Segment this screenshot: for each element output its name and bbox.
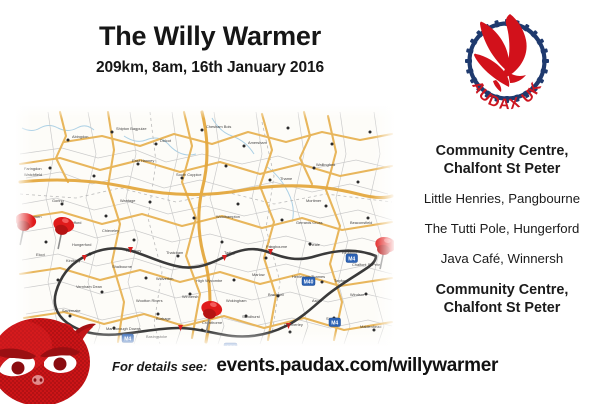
control-list: Community Centre, Chalfont St Peter Litt…: [404, 142, 600, 317]
svg-text:Marlborough Downs: Marlborough Downs: [106, 326, 141, 331]
svg-text:M4: M4: [348, 256, 355, 262]
svg-text:High Wycombe: High Wycombe: [196, 278, 222, 283]
control-pangbourne: Little Henries, Pangbourne: [404, 191, 600, 208]
svg-text:Shipton Bagpuize: Shipton Bagpuize: [116, 126, 147, 131]
control-finish-line2: Chalfont St Peter: [404, 299, 600, 317]
svg-text:Camberley: Camberley: [284, 322, 303, 327]
page-title: The Willy Warmer: [0, 22, 420, 52]
svg-text:Chieveley: Chieveley: [102, 228, 119, 233]
footer-label: For details see:: [112, 359, 207, 374]
svg-text:Wootton Rivers: Wootton Rivers: [136, 298, 163, 303]
control-start-line2: Chalfont St Peter: [404, 160, 600, 178]
svg-text:Shalbourne: Shalbourne: [112, 264, 132, 269]
svg-text:Abingdon: Abingdon: [72, 134, 88, 139]
svg-text:Wolverton: Wolverton: [156, 276, 173, 281]
control-finish: Community Centre, Chalfont St Peter: [404, 281, 600, 318]
svg-text:Wallingford: Wallingford: [316, 162, 335, 167]
svg-text:Goring: Goring: [52, 198, 64, 203]
svg-text:Basingstoke: Basingstoke: [146, 334, 167, 339]
poster-canvas: The Willy Warmer 209km, 8am, 16th Januar…: [0, 0, 600, 400]
event-subtitle: 209km, 8am, 16th January 2016: [0, 59, 420, 77]
svg-text:Chalfont St Peter: Chalfont St Peter: [352, 262, 382, 267]
svg-text:Hungerford: Hungerford: [72, 242, 91, 247]
svg-text:Pangbourne: Pangbourne: [266, 244, 287, 249]
svg-text:Winnersh: Winnersh: [182, 294, 198, 299]
svg-text:M40: M40: [304, 279, 314, 285]
devil-nose-icon: [32, 375, 44, 385]
svg-text:Newbury: Newbury: [126, 248, 141, 253]
svg-text:Amersham: Amersham: [248, 140, 267, 145]
svg-text:Maidenhead: Maidenhead: [360, 324, 381, 329]
control-hungerford: The Tutti Pole, Hungerford: [404, 221, 600, 238]
title-block: The Willy Warmer 209km, 8am, 16th Januar…: [0, 22, 420, 77]
svg-text:Theale: Theale: [308, 242, 320, 247]
control-finish-line1: Community Centre,: [436, 282, 569, 298]
svg-text:Kintbury: Kintbury: [66, 258, 80, 263]
svg-text:Watchfield: Watchfield: [24, 172, 42, 177]
svg-text:Crowthorne: Crowthorne: [202, 320, 222, 325]
svg-text:Wokingham: Wokingham: [226, 298, 246, 303]
svg-text:Faringdon: Faringdon: [24, 166, 42, 171]
svg-text:Vernham Dean: Vernham Dean: [76, 284, 102, 289]
svg-text:Gerrards Cross: Gerrards Cross: [296, 220, 323, 225]
svg-text:Thatcham: Thatcham: [166, 250, 183, 255]
svg-text:Bracknell: Bracknell: [268, 292, 284, 297]
svg-text:Woolhampton: Woolhampton: [216, 214, 240, 219]
control-start: Community Centre, Chalfont St Peter: [404, 142, 600, 179]
svg-text:Wantage: Wantage: [120, 198, 135, 203]
svg-text:Ascot: Ascot: [312, 298, 323, 303]
svg-text:Burbage: Burbage: [156, 316, 171, 321]
svg-text:Twyford: Twyford: [334, 278, 348, 283]
control-start-line1: Community Centre,: [436, 143, 569, 159]
svg-text:M4: M4: [124, 336, 131, 342]
svg-text:Sandhurst: Sandhurst: [242, 314, 261, 319]
svg-text:Elcot: Elcot: [36, 252, 46, 257]
svg-text:South Coppice: South Coppice: [176, 172, 202, 177]
svg-text:Windsor: Windsor: [350, 292, 365, 297]
event-url-link[interactable]: events.paudax.com/willywarmer: [216, 355, 498, 377]
svg-text:Thame: Thame: [280, 176, 292, 181]
svg-text:East Hanney: East Hanney: [132, 158, 154, 163]
svg-text:A34: A34: [226, 345, 235, 346]
footer: For details see: events.paudax.com/willy…: [112, 355, 498, 377]
svg-text:Chesham Bois: Chesham Bois: [206, 124, 231, 129]
svg-text:M4: M4: [331, 320, 338, 326]
svg-text:Mortimer: Mortimer: [306, 198, 322, 203]
red-devil-mascot: [0, 300, 104, 404]
control-winnersh: Java Café, Winnersh: [404, 251, 600, 268]
audax-uk-logo: AUDAX UK: [452, 6, 562, 114]
svg-text:Marlow: Marlow: [252, 272, 265, 277]
svg-text:Didcot: Didcot: [160, 138, 172, 143]
svg-text:Beaconsfield: Beaconsfield: [350, 220, 372, 225]
svg-text:Tadley: Tadley: [224, 250, 235, 255]
